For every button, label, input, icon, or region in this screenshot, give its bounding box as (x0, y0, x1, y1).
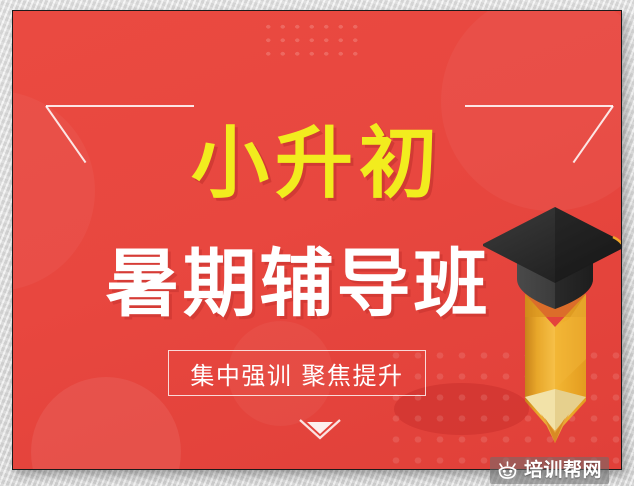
subtitle-box: 集中强训 聚焦提升 (168, 350, 426, 396)
subtitle-text: 集中强训 聚焦提升 (190, 356, 403, 391)
watermark-text: 培训帮网 (524, 461, 602, 480)
smiley-face-icon (497, 461, 518, 480)
dot-grid-icon-top (259, 18, 365, 60)
bracket-right-horizontal (465, 105, 613, 107)
poster-canvas: 小升初 暑期辅导班 集中强训 聚焦提升 (13, 11, 621, 469)
decorative-circle-bottom-left (31, 377, 181, 469)
pencil-graduation-cap-icon (483, 199, 621, 444)
watermark: 培训帮网 (490, 457, 609, 484)
bracket-left-horizontal (46, 105, 194, 107)
chevron-down-icon (298, 417, 342, 441)
poster-frame: 小升初 暑期辅导班 集中强训 聚焦提升 (12, 10, 622, 470)
headline-primary: 小升初 (13, 125, 621, 203)
screenshot-stage: 小升初 暑期辅导班 集中强训 聚焦提升 (0, 0, 634, 486)
